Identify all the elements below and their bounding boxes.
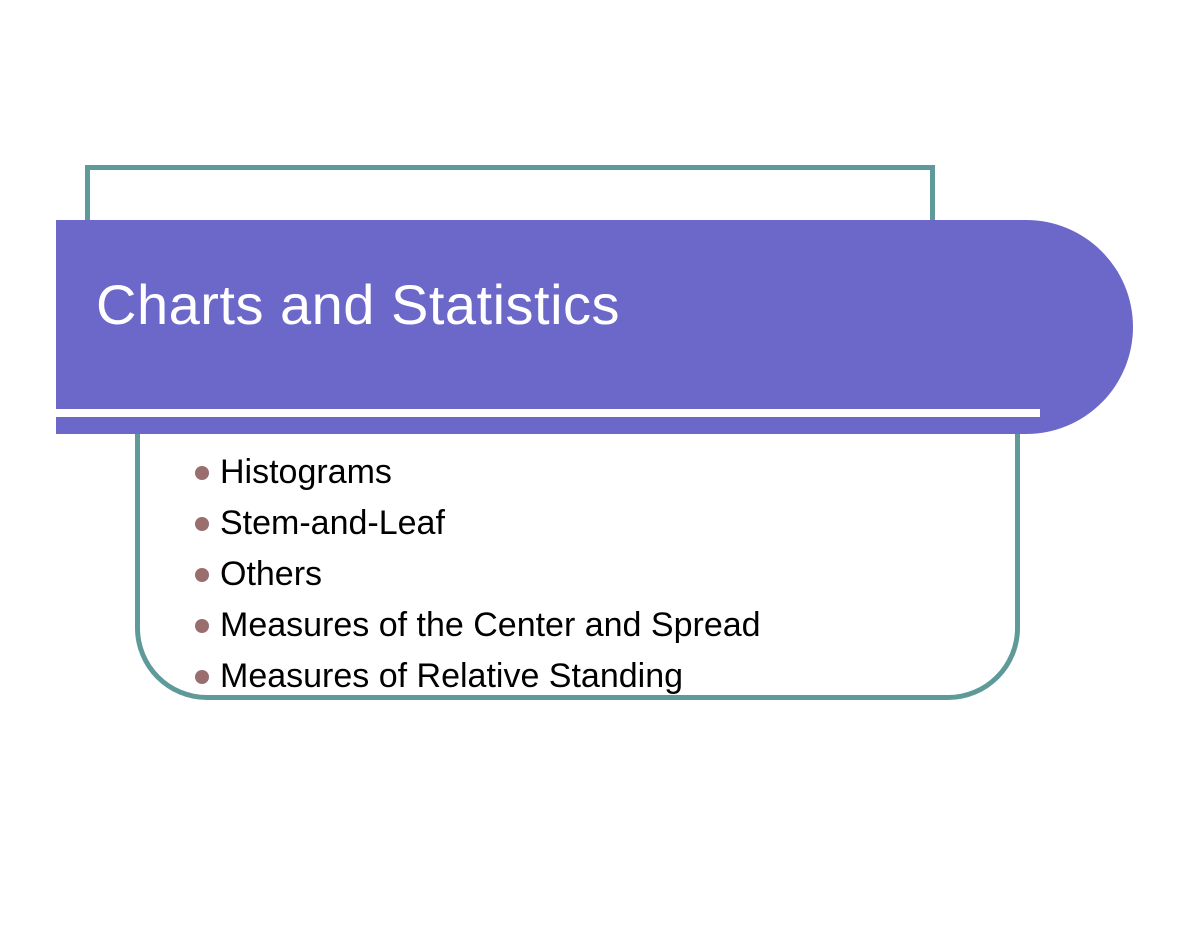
title-underline-rule (56, 409, 1040, 417)
bullet-dot-icon (195, 670, 209, 684)
list-item-label: Others (220, 550, 322, 598)
bullet-dot-icon (195, 568, 209, 582)
bullet-dot-icon (195, 517, 209, 531)
bullet-dot-icon (195, 619, 209, 633)
list-item: Measures of the Center and Spread (195, 601, 1015, 652)
slide-canvas: Charts and Statistics Histograms Stem-an… (0, 0, 1200, 927)
title-banner: Charts and Statistics (56, 220, 1133, 434)
list-item: Stem-and-Leaf (195, 499, 1015, 550)
list-item-label: Measures of the Center and Spread (220, 601, 761, 649)
list-item: Measures of Relative Standing (195, 652, 1015, 703)
page-title: Charts and Statistics (96, 220, 620, 390)
list-item-label: Stem-and-Leaf (220, 499, 445, 547)
bullet-list: Histograms Stem-and-Leaf Others Measures… (195, 448, 1015, 703)
list-item: Others (195, 550, 1015, 601)
bullet-dot-icon (195, 466, 209, 480)
list-item: Histograms (195, 448, 1015, 499)
list-item-label: Histograms (220, 448, 392, 496)
list-item-label: Measures of Relative Standing (220, 652, 683, 700)
